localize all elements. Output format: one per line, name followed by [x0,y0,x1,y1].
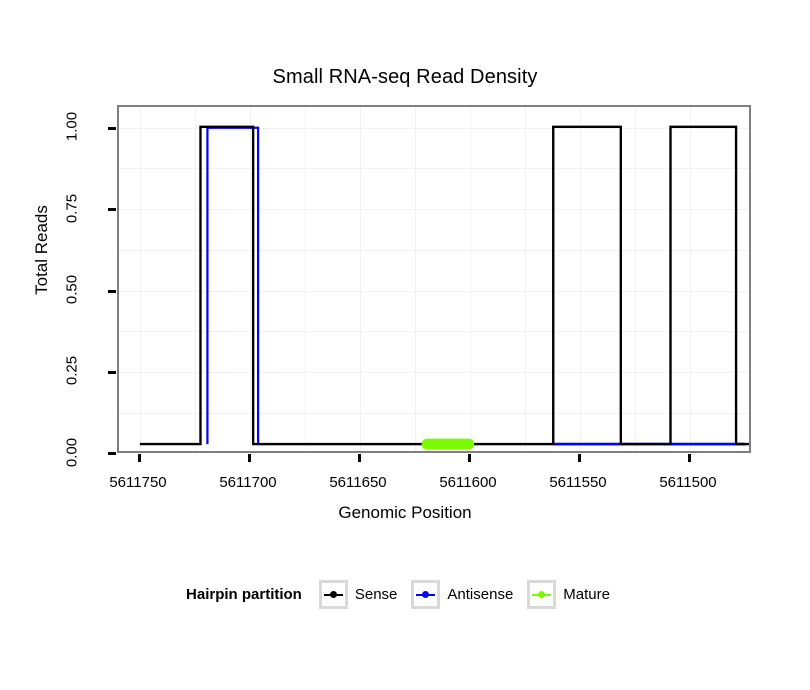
legend-label-antisense: Antisense [447,586,513,603]
legend-label-sense: Sense [355,586,398,603]
legend-key-mature-icon [527,580,556,609]
series-antisense-path [207,128,749,444]
plot-panel [117,105,751,453]
series-sense-path [140,127,749,444]
legend-entry-sense[interactable]: Sense [319,580,398,609]
x-tick-mark-1 [248,454,251,462]
x-tick-mark-4 [578,454,581,462]
legend-key-antisense-icon [411,580,440,609]
x-tick-label-5: 5611500 [638,474,738,491]
x-axis-label: Genomic Position [0,503,810,523]
y-tick-label-2: 0.50 [64,267,81,313]
y-axis-label: Total Reads [32,190,52,310]
chart-figure: Small RNA-seq Read Density Total Reads 0… [0,0,810,690]
y-tick-label-3: 0.75 [64,186,81,232]
x-tick-mark-3 [468,454,471,462]
x-tick-label-3: 5611600 [418,474,518,491]
y-tick-mark-2 [108,290,116,293]
x-tick-label-0: 5611750 [88,474,188,491]
x-tick-label-1: 5611700 [198,474,298,491]
x-tick-label-4: 5611550 [528,474,628,491]
legend-label-mature: Mature [563,586,610,603]
y-tick-mark-4 [108,127,116,130]
legend-entry-mature[interactable]: Mature [527,580,610,609]
y-tick-mark-1 [108,371,116,374]
chart-title: Small RNA-seq Read Density [0,66,810,89]
y-tick-mark-3 [108,208,116,211]
legend-key-sense-icon [319,580,348,609]
x-tick-mark-2 [358,454,361,462]
legend-entry-antisense[interactable]: Antisense [411,580,513,609]
y-tick-label-4: 1.00 [64,104,81,150]
x-tick-mark-5 [688,454,691,462]
y-tick-label-1: 0.25 [64,348,81,394]
legend-title: Hairpin partition [186,586,302,603]
x-tick-mark-0 [138,454,141,462]
y-tick-label-0: 0.00 [64,430,81,476]
y-tick-mark-0 [108,452,116,455]
x-tick-label-2: 5611650 [308,474,408,491]
plot-series-layer [119,107,749,451]
chart-legend: Hairpin partition Sense Antisense Mature [0,580,810,609]
